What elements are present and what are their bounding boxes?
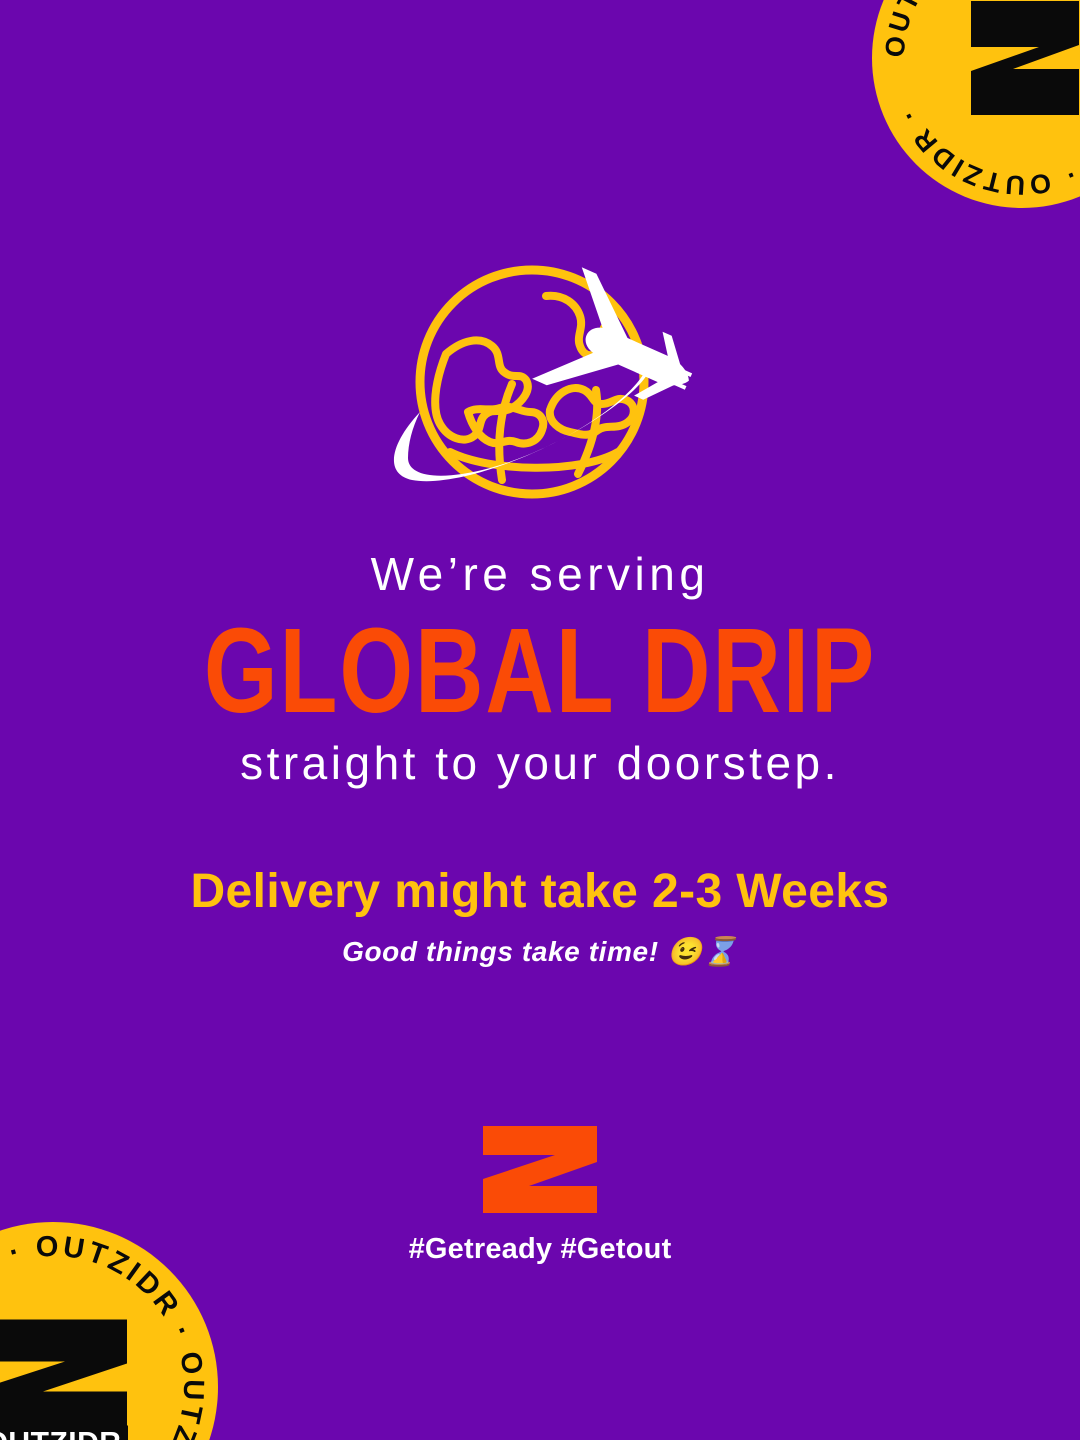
hero-illustration: [0, 262, 1080, 512]
badge-core-bottom-left: OUTZIDR: [0, 1312, 137, 1440]
badge-bottom-left: OUTZIDR · OUTZIDR · OUTZIDR · OUTZIDR · …: [0, 1222, 218, 1440]
headline-eyebrow: We’re serving: [0, 548, 1080, 601]
badge-core-top-right: [947, 0, 1080, 133]
poster-canvas: OUTZIDR · OUTZIDR · OUTZIDR · OUTZIDR ·: [0, 0, 1080, 1440]
badge-top-right: OUTZIDR · OUTZIDR · OUTZIDR · OUTZIDR ·: [872, 0, 1080, 208]
delivery-note: Delivery might take 2-3 Weeks: [0, 864, 1080, 919]
globe-airplane-icon: [350, 262, 730, 512]
headline-subline: straight to your doorstep.: [0, 737, 1080, 790]
headline-main: GLOBAL DRIP: [38, 607, 1042, 735]
outzidr-z-logo-icon: [477, 1122, 603, 1217]
badge-wordmark: OUTZIDR: [0, 1426, 128, 1440]
outzidr-z-mark-icon: [0, 1312, 137, 1440]
outzidr-z-mark-icon: [947, 0, 1080, 133]
delivery-subnote: Good things take time! 😉⌛: [0, 935, 1080, 969]
footer-hashtags: #Getready #Getout: [409, 1233, 672, 1266]
poster-copy: We’re serving GLOBAL DRIP straight to yo…: [0, 548, 1080, 969]
